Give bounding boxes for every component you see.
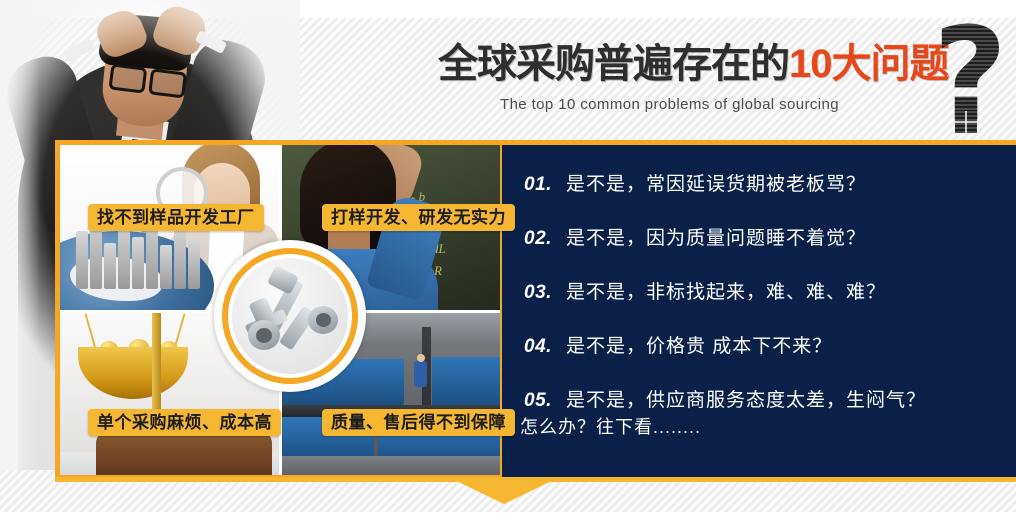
caption-quality-service: 质量、售后得不到保障 — [322, 409, 515, 436]
list-item: 04. 是不是，价格贵 成本下不来？ — [524, 331, 1006, 385]
caption-rnd-weak: 打样开发、研发无实力 — [322, 204, 515, 231]
panel-footnote: 怎么办？往下看........ — [520, 413, 701, 439]
bolts-photo — [232, 258, 348, 374]
problems-panel: 01. 是不是，常因延误货期被老板骂？ 02. 是不是，因为质量问题睡不着觉？ … — [502, 140, 1016, 480]
center-circle-badge — [214, 240, 366, 392]
page-subtitle: The top 10 common problems of global sou… — [500, 96, 839, 113]
scroll-down-arrow — [448, 477, 560, 504]
wooden-base-shape — [96, 431, 272, 478]
problems-list: 01. 是不是，常因延误货期被老板骂？ 02. 是不是，因为质量问题睡不着觉？ … — [524, 169, 1006, 439]
title-orange-part: 10大问题 — [789, 42, 949, 86]
list-item: 02. 是不是，因为质量问题睡不着觉？ — [524, 223, 1006, 277]
list-item-text: 是不是，非标找起来，难、难、难？ — [566, 277, 886, 304]
list-item-number: 04. — [524, 336, 566, 358]
poster-root: 全球采购普遍存在的10大问题 The top 10 common problem… — [0, 0, 1016, 531]
nut-1-hole — [316, 313, 331, 327]
factory-machine-3 — [432, 357, 501, 407]
left-cuff-shape — [63, 38, 95, 63]
nut-2-hole — [256, 328, 272, 343]
list-item-text: 是不是，因为质量问题睡不着觉？ — [566, 223, 866, 250]
bottom-white-strip — [0, 512, 1016, 531]
caption-sample-factory: 找不到样品开发工厂 — [88, 204, 264, 231]
factory-worker-head — [417, 354, 425, 362]
question-mark-icon: ? — [933, 28, 1016, 148]
list-item-number: 05. — [524, 390, 566, 412]
list-item-text: 是不是，价格贵 成本下不来？ — [566, 331, 832, 358]
list-item-text: 是不是，供应商服务态度太差，生闷气？ — [566, 385, 926, 412]
title-dark-part: 全球采购普遍存在的 — [438, 42, 789, 86]
factory-floor-shape — [282, 456, 501, 478]
list-item: 03. 是不是，非标找起来，难、难、难？ — [524, 277, 1006, 331]
factory-worker-body — [414, 361, 427, 387]
page-title: 全球采购普遍存在的10大问题 — [438, 36, 949, 92]
list-item-number: 03. — [524, 282, 566, 304]
list-item-text: 是不是，常因延误货期被老板骂？ — [566, 169, 866, 196]
caption-single-purchase: 单个采购麻烦、成本高 — [88, 409, 281, 436]
question-mark-dot — [955, 111, 977, 133]
list-item: 01. 是不是，常因延误货期被老板骂？ — [524, 169, 1006, 223]
list-item-number: 01. — [524, 174, 566, 196]
header: 全球采购普遍存在的10大问题 The top 10 common problem… — [430, 36, 1016, 140]
list-item-number: 02. — [524, 228, 566, 250]
